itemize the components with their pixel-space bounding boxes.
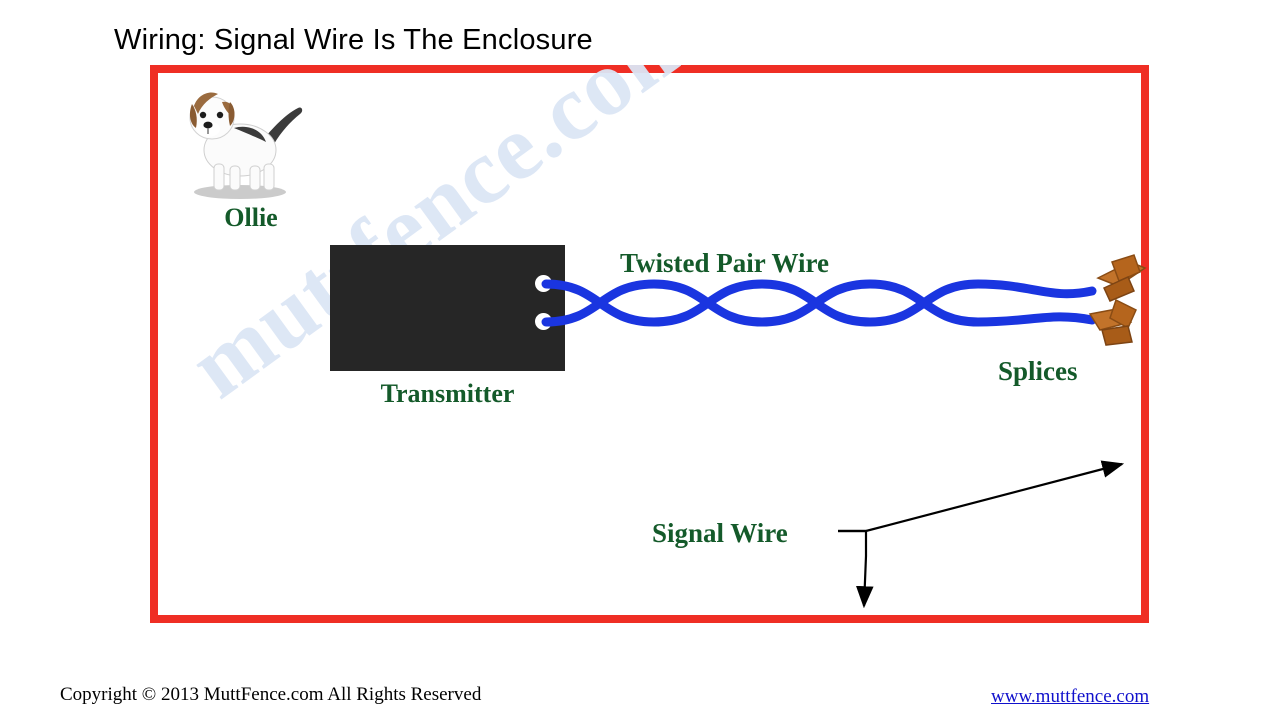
slide-canvas: Wiring: Signal Wire Is The Enclosure mut… (0, 0, 1280, 720)
copyright-text: Copyright © 2013 MuttFence.com All Right… (60, 684, 481, 706)
website-link[interactable]: www.muttfence.com (991, 686, 1149, 708)
transmitter-terminal-bottom (535, 313, 552, 330)
transmitter-terminal-top (535, 275, 552, 292)
transmitter-label: Transmitter (310, 379, 585, 409)
splices-label: Splices (998, 356, 1078, 387)
signal-wire-label: Signal Wire (652, 518, 788, 549)
twisted-pair-wire-label: Twisted Pair Wire (620, 248, 829, 279)
page-title: Wiring: Signal Wire Is The Enclosure (114, 24, 593, 57)
dog-label: Ollie (196, 203, 306, 233)
transmitter-box (330, 245, 565, 371)
dog-illustration (178, 82, 308, 200)
